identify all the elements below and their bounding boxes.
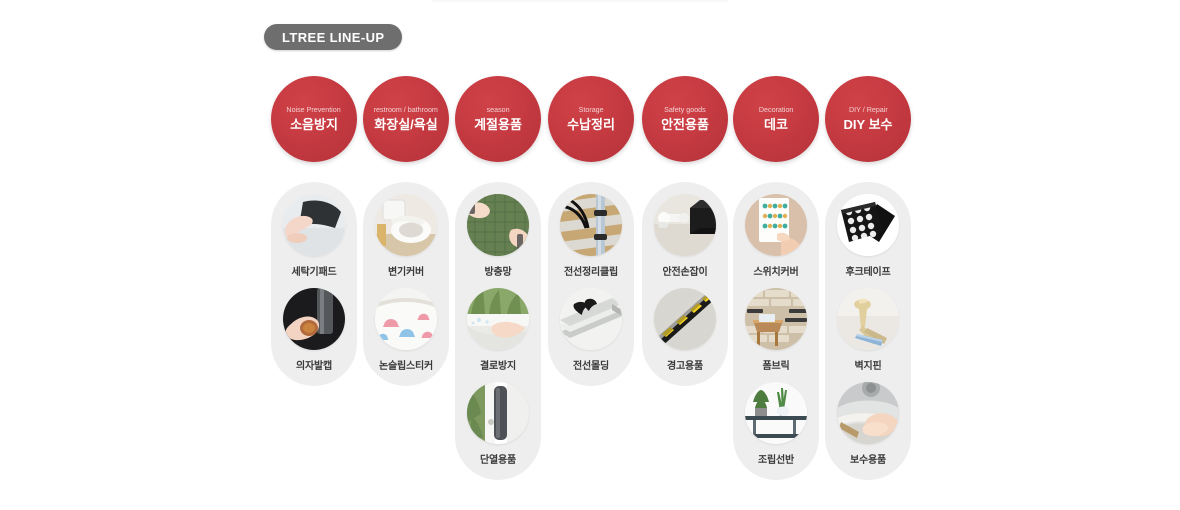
product-item[interactable]: 결로방지	[467, 288, 529, 372]
category-circle[interactable]: restroom / bathroom화장실/욕실	[363, 76, 449, 162]
product-label: 경고용품	[667, 357, 703, 372]
category-circle[interactable]: season계절용품	[455, 76, 541, 162]
clipped-top-strip	[430, 0, 730, 2]
category-title-ko: 안전용품	[661, 116, 709, 134]
product-item[interactable]: 방충망	[467, 194, 529, 278]
product-capsule: 전선정리클립전선몰딩	[548, 182, 634, 386]
product-label: 논슬립스티커	[379, 357, 433, 372]
category-subtitle-en: Noise Prevention	[287, 104, 341, 114]
assembly-shelf-thumb	[745, 382, 807, 444]
chair-foot-cap-thumb	[283, 288, 345, 350]
product-capsule: 방충망결로방지단열용품	[455, 182, 541, 480]
category-circle[interactable]: Decoration데코	[733, 76, 819, 162]
product-label: 전선정리클립	[564, 263, 618, 278]
product-capsule: 스위치커버폼브릭조립선반	[733, 182, 819, 480]
category-columns: Noise Prevention소음방지세탁기패드의자발캡restroom / …	[268, 68, 928, 488]
toilet-cover-thumb	[375, 194, 437, 256]
category-title-ko: 화장실/욕실	[374, 116, 437, 134]
category-subtitle-en: Decoration	[759, 104, 793, 114]
category-column: Storage수납정리전선정리클립전선몰딩	[545, 68, 637, 386]
product-item[interactable]: 조립선반	[745, 382, 807, 466]
condensation-prevention-thumb	[467, 288, 529, 350]
category-column: Safety goods안전용품안전손잡이경고용품	[639, 68, 731, 386]
product-label: 세탁기패드	[292, 263, 337, 278]
category-circle[interactable]: Safety goods안전용품	[642, 76, 728, 162]
product-label: 단열용품	[480, 451, 516, 466]
product-label: 의자발캡	[296, 357, 332, 372]
product-label: 방충망	[485, 263, 512, 278]
product-label: 전선몰딩	[573, 357, 609, 372]
category-title-ko: 소음방지	[290, 116, 338, 134]
product-label: 조립선반	[758, 451, 794, 466]
lineup-badge-label: LTREE LINE-UP	[282, 30, 384, 45]
product-label: 변기커버	[388, 263, 424, 278]
product-item[interactable]: 벽지핀	[837, 288, 899, 372]
product-label: 벽지핀	[855, 357, 882, 372]
product-capsule: 세탁기패드의자발캡	[271, 182, 357, 386]
product-item[interactable]: 단열용품	[467, 382, 529, 466]
product-item[interactable]: 전선몰딩	[560, 288, 622, 372]
product-label: 스위치커버	[754, 263, 799, 278]
category-title-ko: 계절용품	[474, 116, 522, 134]
safety-handle-thumb	[654, 194, 716, 256]
product-item[interactable]: 폼브릭	[745, 288, 807, 372]
repair-goods-thumb	[837, 382, 899, 444]
product-label: 결로방지	[480, 357, 516, 372]
category-circle[interactable]: Noise Prevention소음방지	[271, 76, 357, 162]
lineup-page: LTREE LINE-UP Noise Prevention소음방지세탁기패드의…	[0, 0, 1180, 510]
switch-cover-thumb	[745, 194, 807, 256]
product-capsule: 안전손잡이경고용품	[642, 182, 728, 386]
product-item[interactable]: 경고용품	[654, 288, 716, 372]
category-column: restroom / bathroom화장실/욕실변기커버논슬립스티커	[360, 68, 452, 386]
category-subtitle-en: Safety goods	[664, 104, 706, 114]
category-subtitle-en: season	[487, 104, 510, 114]
product-item[interactable]: 세탁기패드	[283, 194, 345, 278]
category-column: Decoration데코스위치커버폼브릭조립선반	[730, 68, 822, 480]
product-capsule: 변기커버논슬립스티커	[363, 182, 449, 386]
product-item[interactable]: 변기커버	[375, 194, 437, 278]
hook-tape-thumb	[837, 194, 899, 256]
category-subtitle-en: Storage	[579, 104, 604, 114]
cable-clip-thumb	[560, 194, 622, 256]
product-item[interactable]: 의자발캡	[283, 288, 345, 372]
product-item[interactable]: 안전손잡이	[654, 194, 716, 278]
category-subtitle-en: restroom / bathroom	[374, 104, 438, 114]
category-circle[interactable]: DIY / RepairDIY 보수	[825, 76, 911, 162]
product-item[interactable]: 전선정리클립	[560, 194, 622, 278]
category-column: season계절용품방충망결로방지단열용품	[452, 68, 544, 480]
product-label: 폼브릭	[763, 357, 790, 372]
product-label: 보수용품	[850, 451, 886, 466]
non-slip-sticker-thumb	[375, 288, 437, 350]
insulation-goods-thumb	[467, 382, 529, 444]
category-title-ko: 데코	[764, 116, 788, 134]
product-item[interactable]: 보수용품	[837, 382, 899, 466]
insect-screen-thumb	[467, 194, 529, 256]
cable-molding-thumb	[560, 288, 622, 350]
product-label: 안전손잡이	[663, 263, 708, 278]
product-capsule: 후크테이프벽지핀보수용품	[825, 182, 911, 480]
category-subtitle-en: DIY / Repair	[849, 104, 888, 114]
product-label: 후크테이프	[846, 263, 891, 278]
category-column: Noise Prevention소음방지세탁기패드의자발캡	[268, 68, 360, 386]
product-item[interactable]: 스위치커버	[745, 194, 807, 278]
category-title-ko: DIY 보수	[844, 116, 893, 134]
warning-goods-thumb	[654, 288, 716, 350]
lineup-badge: LTREE LINE-UP	[264, 24, 402, 50]
product-item[interactable]: 후크테이프	[837, 194, 899, 278]
washing-machine-pad-thumb	[283, 194, 345, 256]
product-item[interactable]: 논슬립스티커	[375, 288, 437, 372]
category-column: DIY / RepairDIY 보수후크테이프벽지핀보수용품	[822, 68, 914, 480]
category-circle[interactable]: Storage수납정리	[548, 76, 634, 162]
wallpaper-pin-thumb	[837, 288, 899, 350]
foam-brick-thumb	[745, 288, 807, 350]
category-title-ko: 수납정리	[567, 116, 615, 134]
